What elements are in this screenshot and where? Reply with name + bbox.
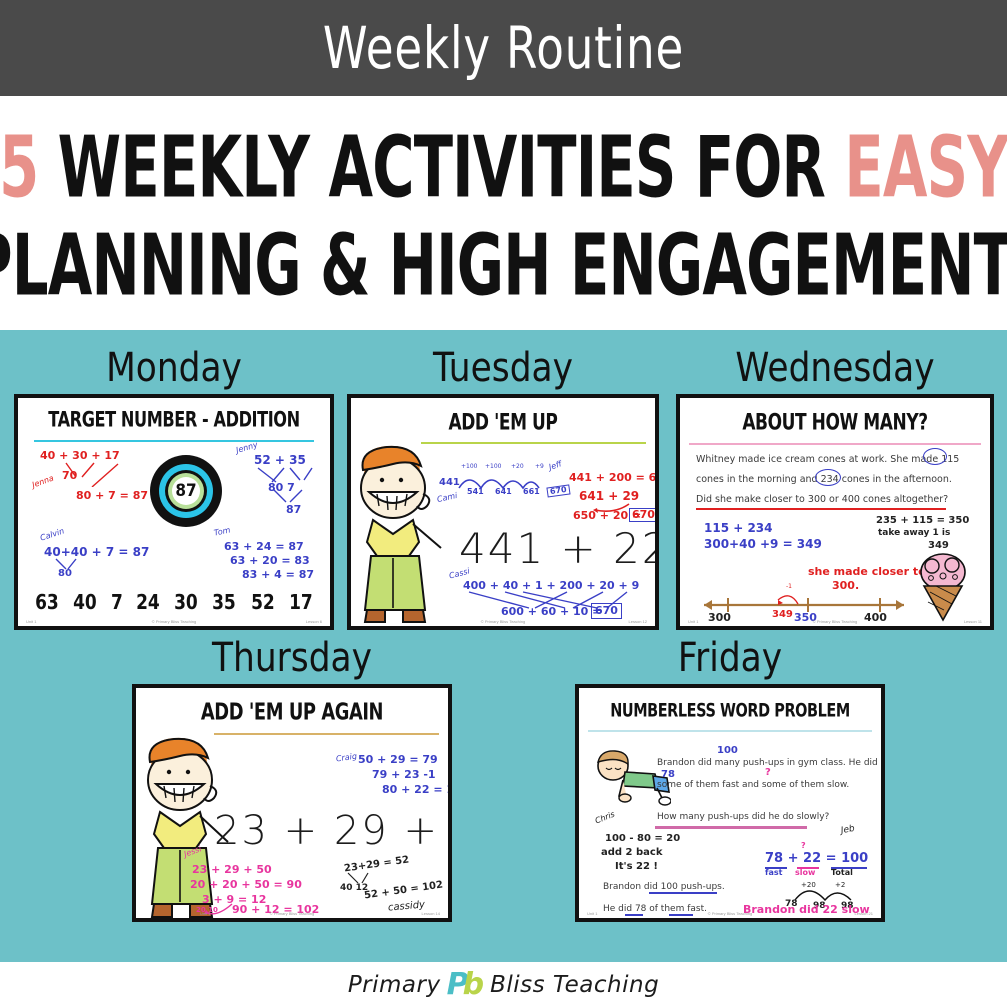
day-card-tuesday[interactable]: Tuesday ADD 'EM UP 4 — [347, 348, 659, 630]
jump-label-plus20: +20 — [511, 464, 524, 470]
headline-line-2: PLANNING & HIGH ENGAGEMENT! — [0, 223, 1007, 308]
friday-jump-plus20: +20 — [801, 882, 816, 889]
day-card-wednesday[interactable]: Wednesday ABOUT HOW MANY? Whitney made i… — [676, 348, 994, 630]
student-work-cassi-line2: 600 + 60 + 10 = — [501, 606, 601, 618]
numberline-tick-300: 300 — [708, 612, 731, 624]
underline-question-wednesday — [696, 508, 946, 510]
kid-illustration-tuesday — [349, 438, 445, 628]
target-number-87: 87 — [173, 477, 198, 505]
jump-label-plus9: +9 — [535, 464, 544, 470]
worksheet-thursday[interactable]: ADD 'EM UP AGAIN Craig 50 — [132, 684, 452, 922]
student-name-cassidy: cassidy — [388, 900, 426, 914]
circle-highlight-234 — [815, 469, 841, 486]
student-work-jeff-line1: 441 + 200 = 641 — [569, 472, 659, 484]
underline-fast — [669, 914, 693, 916]
title-rule-thursday — [214, 733, 439, 735]
worksheet-friday[interactable]: NUMBERLESS WORD PROBLEM 100 Brandon did … — [575, 684, 885, 922]
days-gallery: Monday TARGET NUMBER - ADDITION 40 + 30 … — [0, 330, 1007, 962]
kid-pushup-illustration-friday — [593, 748, 671, 808]
annotation-100-friday: 100 — [717, 746, 738, 757]
worksheet-footer-right-wednesday: Lesson 11 — [964, 619, 982, 624]
student-name-chris: Chris — [594, 810, 616, 825]
worksheet-title-monday: TARGET NUMBER - ADDITION — [41, 408, 306, 432]
number-bank-item-5: 35 — [213, 590, 237, 614]
day-card-monday[interactable]: Monday TARGET NUMBER - ADDITION 40 + 30 … — [14, 348, 334, 630]
student-name-jenna: Jenna — [31, 474, 55, 490]
student-work-jenna-line2: 70 — [62, 470, 77, 482]
worksheet-title-wednesday: ABOUT HOW MANY? — [703, 409, 967, 435]
student-work-wed-black-line2: take away 1 is — [878, 529, 950, 538]
number-bank-monday: 634072430355217 — [18, 590, 330, 614]
number-bank-item-2: 7 — [111, 590, 123, 614]
problem-tuesday: 441 + 229 — [459, 524, 659, 573]
worksheet-footer-left-friday: Unit 1 — [587, 911, 597, 916]
student-work-calvin-line2: 80 — [58, 569, 72, 580]
headline-accent-easy: EASY — [844, 117, 1007, 216]
student-work-jessi-line1: 23 + 29 + 50 — [192, 864, 272, 876]
day-label-friday: Friday — [597, 638, 864, 678]
worksheet-footer-left-thursday: Unit 1 — [200, 911, 210, 916]
worksheet-footer-right-tuesday: Lesson 12 — [629, 619, 647, 624]
student-work-chris-line2: add 2 back — [601, 848, 662, 859]
student-work-tom-line1: 63 + 24 = 87 — [224, 541, 304, 553]
underline-statement-1 — [649, 892, 717, 894]
number-bank-item-1: 40 — [74, 590, 98, 614]
student-work-jessi-line2: 20 + 20 + 50 = 90 — [190, 879, 302, 891]
branch-lines-jenna — [48, 461, 128, 487]
title-rule-monday — [34, 440, 315, 442]
jump-label-plus100-a: +100 — [461, 464, 477, 470]
worksheet-footer-right-friday: Lesson 21 — [855, 911, 873, 916]
numberline-541: 541 — [467, 488, 484, 496]
worksheet-monday[interactable]: TARGET NUMBER - ADDITION 40 + 30 + 17 Je… — [14, 394, 334, 630]
day-card-thursday[interactable]: Thursday ADD 'EM UP AGAIN — [132, 638, 452, 922]
student-work-jenna-line1: 40 + 30 + 17 — [40, 450, 120, 462]
page-title: Weekly Routine — [323, 14, 684, 82]
numberline-marked-349: 349 — [772, 610, 793, 621]
student-name-calvin: Calvin — [39, 527, 65, 543]
headline-number: 5 — [0, 117, 38, 216]
word-problem-line-3: Did she make closer to 300 or 400 cones … — [696, 494, 948, 505]
student-work-jenna-line3: 80 + 7 = 87 — [76, 490, 148, 502]
friday-statement-2: He did 78 of them fast. — [603, 904, 707, 914]
student-work-craig-line1: 50 + 29 = 79 — [358, 754, 438, 766]
brand-logo-pb: Pb — [447, 970, 484, 1000]
student-name-tom: Tom — [213, 526, 231, 538]
student-work-wed-black-line1: 235 + 115 = 350 — [876, 516, 969, 527]
worksheet-footer-center-wednesday: © Primary Bliss Teaching — [813, 619, 857, 624]
brand-primary: Primary — [348, 972, 441, 998]
circle-highlight-115 — [923, 448, 947, 465]
friday-word-problem-line-2: some of them fast and some of them slow. — [657, 780, 849, 790]
worksheet-footer-left-monday: Unit 1 — [26, 619, 36, 624]
brand-bliss-teaching: Bliss Teaching — [490, 972, 659, 998]
student-work-tom-line3: 83 + 4 = 87 — [242, 569, 314, 581]
title-rule-friday — [588, 730, 872, 732]
jeb-question-mark: ? — [801, 842, 806, 850]
worksheet-title-thursday: ADD 'EM UP AGAIN — [159, 699, 424, 725]
number-bank-item-6: 52 — [251, 590, 275, 614]
headline-line-1: 5 WEEKLY ACTIVITIES FOR EASY — [0, 125, 1007, 210]
student-conclusion-wed-line1: she made closer to — [808, 566, 926, 578]
student-work-jenny-line3: 87 — [286, 504, 301, 516]
student-work-calvin-line1: 40+40 + 7 = 87 — [44, 546, 149, 559]
word-problem-line-1: Whitney made ice cream cones at work. Sh… — [696, 454, 959, 465]
jeff-answer-box-670: 670 — [629, 508, 658, 522]
friday-jump-plus2: +2 — [835, 882, 845, 889]
worksheet-footer-center-tuesday: © Primary Bliss Teaching — [481, 619, 525, 624]
brand-logo-b: b — [463, 970, 484, 1000]
underline-78 — [625, 914, 643, 916]
student-work-jeff-line2: 641 + 29 — [579, 490, 639, 503]
friday-conclusion-line1: Brandon did 22 slow — [743, 904, 870, 916]
worksheet-footer-center-monday: © Primary Bliss Teaching — [152, 619, 196, 624]
day-label-monday: Monday — [36, 348, 311, 388]
header-bar: Weekly Routine — [0, 0, 1007, 96]
student-name-craig: Craig — [336, 753, 358, 764]
student-work-tom-line2: 63 + 20 = 83 — [230, 555, 310, 567]
worksheet-footer-right-monday: Lesson 6 — [306, 619, 322, 624]
worksheet-footer-right-thursday: Lesson 14 — [422, 911, 440, 916]
numberline-back-jump — [774, 590, 804, 608]
student-work-jeb-equation: 78 + 22 = 100 — [765, 852, 868, 866]
worksheet-footer-center-thursday: © Primary Bliss Teaching — [270, 911, 314, 916]
worksheet-title-friday: NUMBERLESS WORD PROBLEM — [602, 700, 859, 722]
number-bank-item-0: 63 — [35, 590, 59, 614]
worksheet-wednesday[interactable]: ABOUT HOW MANY? Whitney made ice cream c… — [676, 394, 994, 630]
student-work-wed-blue-line2: 300+40 +9 = 349 — [704, 538, 822, 551]
worksheet-title-tuesday: ADD 'EM UP — [374, 409, 632, 435]
friday-conclusion-line2: push-ups . — [765, 917, 830, 922]
jeb-label-total: Total — [831, 869, 853, 877]
student-name-cami: Cami — [436, 492, 458, 504]
student-name-jeb: Jeb — [840, 825, 855, 837]
numberline-641: 641 — [495, 488, 512, 496]
headline-block: 5 WEEKLY ACTIVITIES FOR EASY PLANNING & … — [0, 96, 1007, 330]
numberline-661: 661 — [523, 488, 540, 496]
jeb-label-fast: fast — [765, 869, 782, 877]
annotation-question-friday: ? — [765, 768, 771, 779]
title-rule-tuesday — [421, 442, 646, 444]
jeb-label-slow: slow — [795, 869, 815, 877]
friday-statement-1: Brandon did 100 push-ups. — [603, 882, 725, 892]
friday-question: How many push-ups did he do slowly? — [657, 812, 829, 822]
cassi-answer-box-670: 670 — [591, 603, 622, 619]
student-work-craig-line3: 80 + 22 = 102 — [382, 784, 452, 796]
number-bank-item-4: 30 — [174, 590, 198, 614]
day-label-tuesday: Tuesday — [369, 348, 637, 388]
brand-footer: Primary Pb Bliss Teaching — [0, 962, 1007, 1007]
day-card-friday[interactable]: Friday NUMBERLESS WORD PROBLEM 100 Brand… — [575, 638, 885, 922]
student-work-craig-line2: 79 + 23 -1 — [372, 769, 436, 781]
student-work-jenny-line1: 52 + 35 — [254, 454, 306, 467]
title-rule-wednesday — [689, 443, 980, 445]
day-label-wednesday: Wednesday — [698, 348, 971, 388]
numberline-tick-400: 400 — [864, 612, 887, 624]
day-label-thursday: Thursday — [154, 638, 429, 678]
student-conclusion-wed-line2: 300. — [832, 580, 859, 592]
jump-label-plus100-b: +100 — [485, 464, 501, 470]
worksheet-tuesday[interactable]: ADD 'EM UP 441 — [347, 394, 659, 630]
number-bank-item-3: 24 — [136, 590, 160, 614]
annotation-78-friday: 78 — [661, 770, 675, 781]
student-work-chris-line3: It's 22 ! — [615, 862, 658, 873]
number-bank-item-7: 17 — [289, 590, 313, 614]
student-work-wed-blue-line1: 115 + 234 — [704, 522, 773, 535]
numberline-answer-670: 670 — [546, 484, 570, 497]
worksheet-footer-center-friday: © Primary Bliss Teaching — [708, 911, 752, 916]
underline-question-friday — [655, 826, 807, 829]
student-work-jenny-line2: 80 7 — [268, 482, 295, 494]
ice-cream-cone-illustration — [912, 550, 974, 622]
student-work-chris-line1: 100 - 80 = 20 — [605, 834, 680, 845]
worksheet-footer-left-wednesday: Unit 1 — [688, 619, 698, 624]
problem-thursday: 23 + 29 + 50 — [214, 808, 452, 854]
headline-line-1-mid: WEEKLY ACTIVITIES FOR — [38, 117, 844, 216]
